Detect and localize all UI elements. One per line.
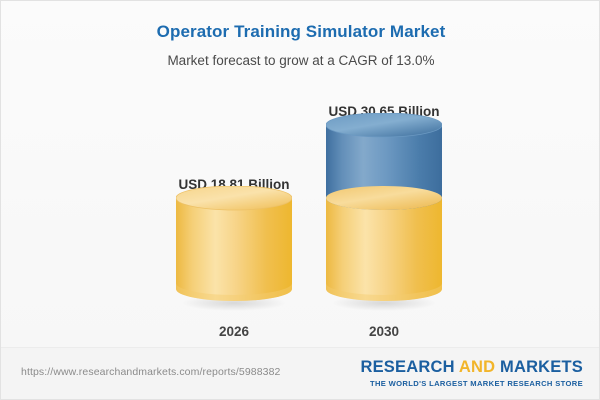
bar-category-label-2026: 2026 — [219, 324, 249, 339]
logo-word-and: AND — [459, 358, 495, 376]
logo-wordmark: RESEARCH AND MARKETS — [360, 359, 583, 376]
logo-tagline: THE WORLD'S LARGEST MARKET RESEARCH STOR… — [360, 380, 583, 388]
bar-2026[interactable] — [176, 186, 292, 306]
report-url[interactable]: https://www.researchandmarkets.com/repor… — [21, 366, 280, 378]
logo-word-research: RESEARCH — [360, 358, 458, 376]
plot-region: USD 18.81 Billion — [1, 1, 600, 349]
bar-2030[interactable] — [326, 113, 442, 306]
footer: https://www.researchandmarkets.com/repor… — [1, 347, 600, 399]
chart-area: Operator Training Simulator Market Marke… — [1, 1, 600, 349]
bar-category-label-2030: 2030 — [369, 324, 399, 339]
chart-card: Operator Training Simulator Market Marke… — [0, 0, 600, 400]
logo-word-markets: MARKETS — [495, 358, 583, 376]
research-and-markets-logo[interactable]: RESEARCH AND MARKETS THE WORLD'S LARGEST… — [360, 359, 583, 387]
